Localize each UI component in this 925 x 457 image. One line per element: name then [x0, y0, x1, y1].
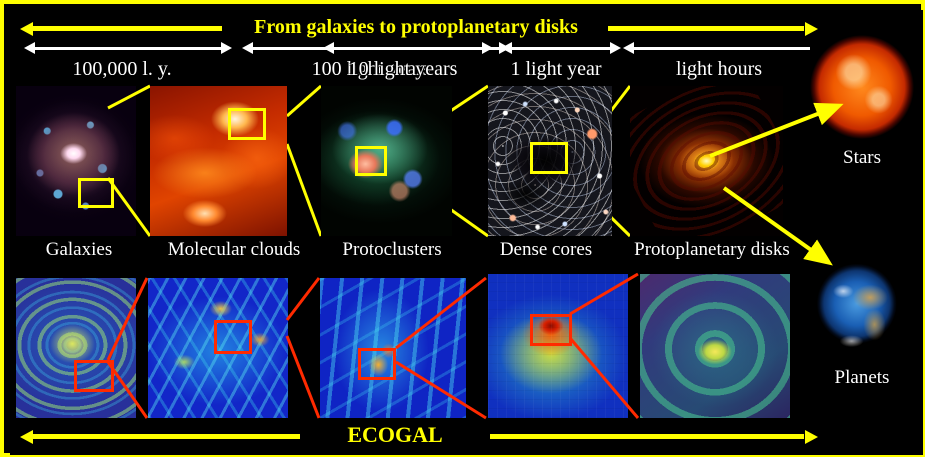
observation-label-galaxies: Galaxies [14, 238, 144, 262]
bottom-banner-title: ECOGAL [301, 422, 489, 448]
observation-label-molecular-clouds: Molecular clouds [148, 238, 320, 262]
zoom-box-galaxies [78, 178, 114, 208]
observation-label-dense-cores: Dense cores [480, 238, 612, 262]
molecular-cloud-image [150, 86, 287, 236]
zoom-box-sim-cluster [358, 348, 396, 380]
panel-protoclusters-observation [321, 86, 452, 236]
zoom-box-sim-cloud [214, 320, 252, 354]
dense-core-simulation-image [488, 274, 628, 418]
panel-galaxy-simulation [16, 278, 136, 418]
top-banner-left-rule [32, 26, 222, 31]
panel-molecular-cloud-simulation [148, 278, 288, 418]
panel-dense-core-simulation [488, 274, 628, 418]
zoom-box-protoclusters [355, 146, 387, 176]
zoom-box-sim-galaxy [74, 360, 114, 392]
panel-dense-cores-observation [488, 86, 612, 236]
panel-planet [810, 260, 914, 364]
panel-molecular-clouds-observation [150, 86, 287, 236]
pixelation-overlay [488, 274, 628, 418]
observation-label-protoclusters: Protoclusters [322, 238, 462, 262]
panel-galaxies-observation [16, 86, 136, 236]
figure-inner: From galaxies to protoplanetary disks [10, 10, 923, 455]
outcome-label-planets: Planets [810, 366, 914, 390]
scale-arrow-row-2 [10, 42, 923, 56]
top-banner: From galaxies to protoplanetary disks [18, 14, 818, 40]
scale-label-2: 10 light years [323, 56, 483, 82]
top-banner-right-rule [608, 26, 804, 31]
bottom-banner-right-arrowhead-icon [805, 430, 818, 444]
top-banner-title: From galaxies to protoplanetary disks [223, 14, 609, 40]
observation-label-protoplanetary-disks: Protoplanetary disks [614, 238, 810, 262]
zoom-box-sim-core [530, 314, 572, 346]
zoom-box-molecular-clouds [228, 108, 266, 140]
scale-label-4: light hours [623, 56, 815, 82]
galaxy-simulation-image [16, 278, 136, 418]
scale-label-3: 1 light year [498, 56, 614, 82]
disk-rings [630, 86, 783, 236]
figure-frame: From galaxies to protoplanetary disks [0, 0, 925, 457]
panel-protoplanetary-disk-simulation [640, 274, 790, 418]
scale-label-0: 100,000 l. y. [14, 56, 230, 82]
scale-label-row: 100,000 l. y. 100 light years 10 light y… [10, 56, 923, 84]
star-image [810, 34, 914, 140]
panel-protoplanetary-disks-observation [630, 86, 783, 236]
bottom-banner: ECOGAL [18, 422, 818, 448]
zoom-box-dense-cores [530, 142, 568, 174]
panel-star [810, 34, 914, 140]
bottom-banner-left-rule [32, 434, 300, 439]
planet-image [810, 260, 914, 364]
panel-protocluster-simulation [320, 278, 466, 418]
protoplanetary-disk-simulation-image [640, 274, 790, 418]
outcome-label-stars: Stars [810, 146, 914, 170]
bottom-banner-right-rule [490, 434, 804, 439]
galaxy-image [16, 86, 136, 236]
protoplanetary-disk-image [630, 86, 783, 236]
